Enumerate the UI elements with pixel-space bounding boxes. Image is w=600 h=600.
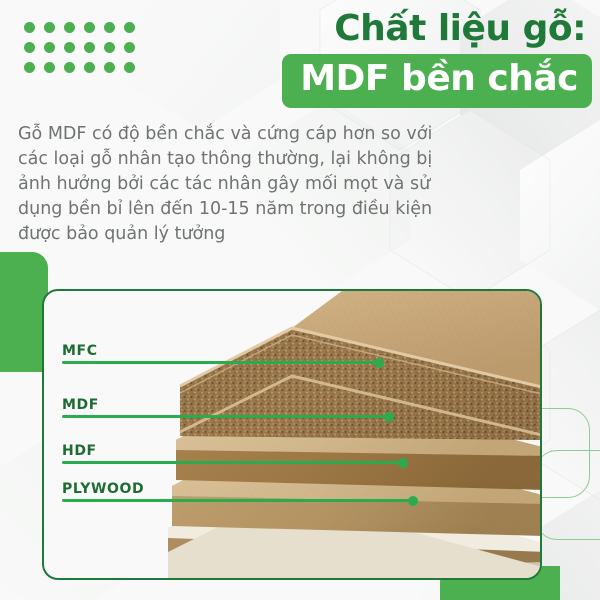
leader-dot (384, 412, 394, 422)
body-line: các loại gỗ nhân tạo thông thường, lại k… (18, 147, 438, 172)
leader-line (62, 415, 390, 418)
dot (44, 42, 55, 53)
dot (44, 22, 55, 33)
dot (124, 62, 135, 73)
leader-dot (374, 358, 384, 368)
body-paragraph: Gỗ MDF có độ bền chắc và cứng cáp hơn so… (18, 122, 438, 247)
page-title: Chất liệu gỗ: (282, 8, 586, 49)
dot (104, 22, 115, 33)
headline-badge: MDF bền chắc (282, 54, 592, 107)
wood-layers-card: MFC MDF HDF PLYWOOD (42, 289, 542, 580)
layer-label-mfc: MFC (62, 343, 482, 364)
layer-label-group: MFC MDF HDF PLYWOOD (44, 291, 540, 578)
leader-line (62, 461, 404, 464)
poster-canvas: Chất liệu gỗ: MDF bền chắc Gỗ MDF có độ … (0, 0, 600, 600)
dot (84, 22, 95, 33)
accent-block-left (0, 252, 48, 372)
dot-grid (24, 22, 144, 82)
dot (124, 22, 135, 33)
dot (84, 42, 95, 53)
headline-badge-label: MDF bền chắc (300, 58, 578, 99)
layer-label-plywood: PLYWOOD (62, 481, 482, 502)
layer-label-text: MDF (62, 397, 482, 413)
body-line: được bảo quản lý tưởng (18, 222, 438, 247)
dot (44, 62, 55, 73)
dot (24, 62, 35, 73)
dot (64, 42, 75, 53)
layer-label-hdf: HDF (62, 443, 482, 464)
decorative-ring-b (535, 450, 600, 540)
dot (104, 62, 115, 73)
dot (124, 42, 135, 53)
dot (64, 62, 75, 73)
layer-label-text: PLYWOOD (62, 481, 482, 497)
dot (64, 22, 75, 33)
leader-line (62, 499, 414, 502)
body-line: Gỗ MDF có độ bền chắc và cứng cáp hơn so… (18, 122, 438, 147)
leader-line (62, 361, 380, 364)
dot (104, 42, 115, 53)
layer-label-text: HDF (62, 443, 482, 459)
headline-block: Chất liệu gỗ: MDF bền chắc (282, 8, 586, 108)
layer-label-mdf: MDF (62, 397, 482, 418)
body-line: dụng bền bỉ lên đến 10-15 năm trong điều… (18, 197, 438, 222)
dot (24, 42, 35, 53)
dot (84, 62, 95, 73)
dot (24, 22, 35, 33)
leader-dot (408, 496, 418, 506)
body-line: ảnh hưởng bởi các tác nhân gây mối mọt v… (18, 172, 438, 197)
leader-dot (398, 458, 408, 468)
layer-label-text: MFC (62, 343, 482, 359)
